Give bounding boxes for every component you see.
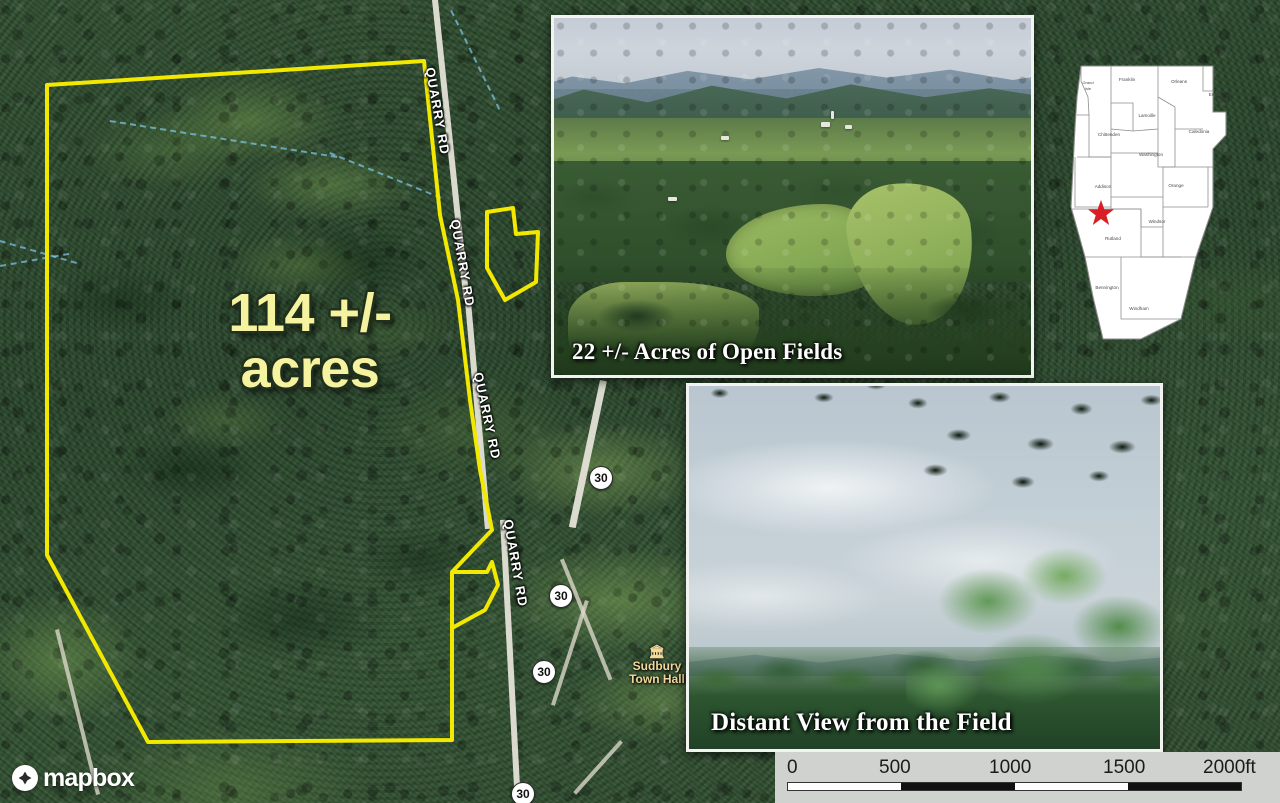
poi-label-line2: Town Hall	[629, 672, 685, 686]
scale-segment-1	[788, 783, 901, 790]
farm-building-4	[668, 197, 677, 201]
farm-building-3	[721, 136, 729, 140]
vermont-locator-map[interactable]: Grand Isle Franklin Orleans Essex Lamoil…	[1063, 57, 1243, 348]
svg-text:Lamoille: Lamoille	[1138, 113, 1156, 118]
vermont-state-outline	[1071, 66, 1226, 339]
photo-aerial-open-fields[interactable]: 22 +/- Acres of Open Fields	[551, 15, 1034, 378]
overhanging-leaves-right	[877, 383, 1163, 517]
photo-distant-view[interactable]: Distant View from the Field	[686, 383, 1163, 752]
scale-tick-4: 2000ft	[1203, 756, 1256, 780]
parcel-polygon-east[interactable]	[487, 208, 538, 300]
property-marketing-map-graphic: QUARRY RD QUARRY RD QUARRY RD QUARRY RD …	[0, 0, 1280, 803]
acreage-value: 114 +/-	[195, 286, 425, 342]
svg-text:Caledonia: Caledonia	[1189, 129, 1210, 134]
route-shield-30-3[interactable]: 30	[532, 660, 556, 684]
vermont-county-svg: Grand Isle Franklin Orleans Essex Lamoil…	[1063, 57, 1243, 348]
parcel-southeast-jog	[452, 562, 498, 628]
map-scale-bar: 0 500 1000 1500 2000ft	[775, 752, 1280, 803]
poi-sudbury-town-hall[interactable]: 🏛 Sudbury Town Hall	[620, 645, 694, 686]
svg-text:Orange: Orange	[1168, 183, 1184, 188]
svg-text:Isle: Isle	[1085, 86, 1092, 91]
svg-text:Essex: Essex	[1209, 92, 1222, 97]
route-shield-30-2[interactable]: 30	[549, 584, 573, 608]
farm-building-2	[845, 125, 852, 129]
photo-caption-open-fields: 22 +/- Acres of Open Fields	[572, 339, 842, 365]
aerial-scene	[554, 18, 1031, 375]
svg-text:Franklin: Franklin	[1119, 77, 1136, 82]
scale-tick-labels: 0 500 1000 1500 2000ft	[783, 756, 1274, 780]
scale-tick-2: 1000	[989, 756, 1031, 780]
foliage-texture	[554, 18, 1031, 375]
svg-text:Addison: Addison	[1095, 184, 1112, 189]
svg-text:Rutland: Rutland	[1105, 236, 1121, 241]
church-steeple	[831, 111, 834, 119]
scale-tick-1: 500	[879, 756, 911, 780]
mapbox-attribution[interactable]: mapbox	[12, 763, 134, 793]
svg-text:Windsor: Windsor	[1149, 219, 1166, 224]
town-hall-icon: 🏛	[620, 645, 694, 659]
scale-tick-0: 0	[787, 756, 798, 780]
acreage-unit: acres	[195, 342, 425, 398]
route-shield-30-1[interactable]: 30	[589, 466, 613, 490]
svg-text:Washington: Washington	[1139, 152, 1164, 157]
parcel-polygon-main[interactable]	[47, 61, 492, 742]
scale-segment-4	[1128, 783, 1241, 790]
route-shield-30-4[interactable]: 30	[511, 782, 535, 803]
svg-text:Bennington: Bennington	[1095, 285, 1119, 290]
svg-text:Windham: Windham	[1129, 306, 1149, 311]
scale-segment-2	[901, 783, 1014, 790]
svg-text:Chittenden: Chittenden	[1098, 132, 1121, 137]
photo-caption-distant-view: Distant View from the Field	[711, 709, 1012, 737]
scale-segment-3	[1015, 783, 1128, 790]
poi-label-line1: Sudbury	[633, 659, 682, 673]
mapbox-compass-icon	[12, 765, 38, 791]
acreage-callout: 114 +/- acres	[195, 286, 425, 397]
scale-tick-3: 1500	[1103, 756, 1145, 780]
svg-text:Orleans: Orleans	[1171, 79, 1188, 84]
farm-building-1	[821, 122, 830, 127]
overhanging-leaves-left	[698, 383, 915, 437]
mapbox-wordmark: mapbox	[43, 764, 134, 793]
svg-text:Grand: Grand	[1082, 80, 1093, 85]
scale-bar-track	[787, 782, 1242, 791]
